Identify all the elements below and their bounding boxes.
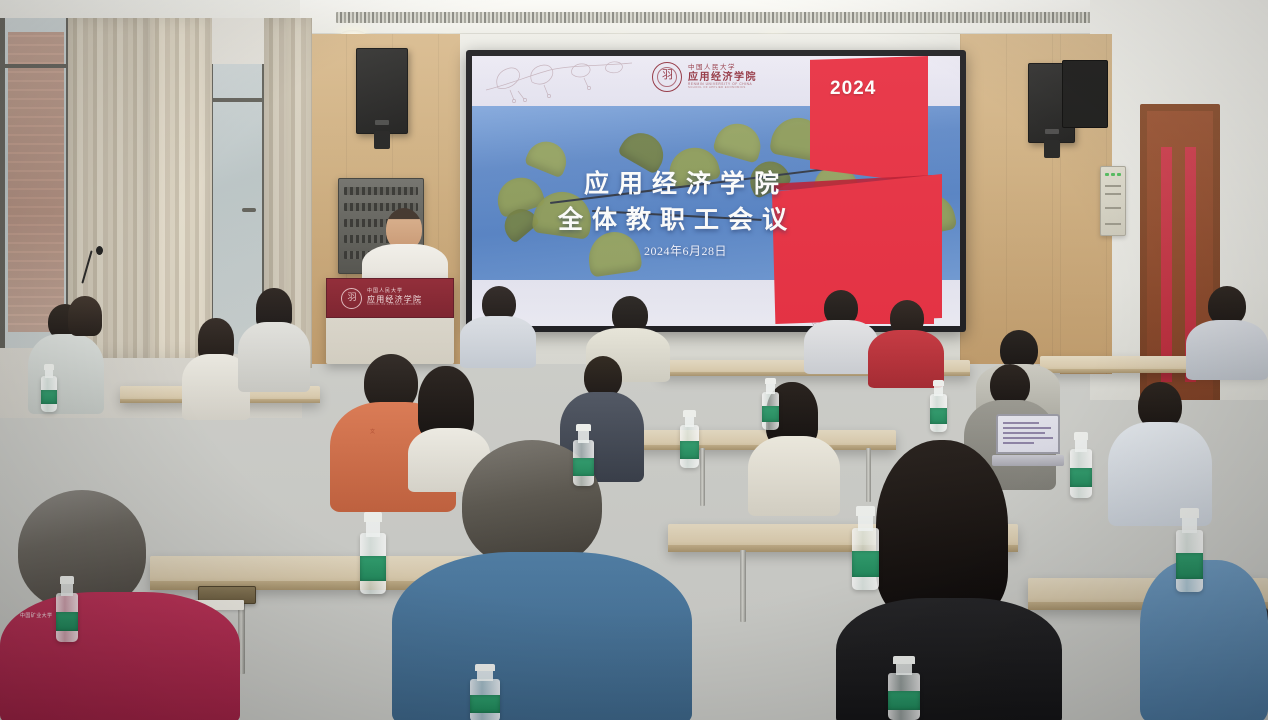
laptop-doc-line [1003,432,1045,434]
bottle-cap [576,424,590,431]
water-bottle[interactable] [573,424,594,486]
bottle-label [1070,468,1092,488]
attendee-foreground [392,440,692,720]
attendee-hair [68,296,102,336]
bottle-neck [685,416,695,428]
bottle-neck [578,430,589,442]
bottle-cap [683,410,696,417]
bottle-label [1176,553,1203,578]
window-mullion [0,64,73,68]
seal-glyph: ⽻ [342,293,361,302]
status-led [1111,173,1115,176]
panel-row [1105,185,1121,187]
loudspeaker-icon [356,48,408,134]
bottle-cap [475,664,495,671]
panel-row [1105,193,1121,195]
attendee-foreground [0,490,240,720]
attendee [804,290,878,372]
bottle-label [852,551,879,576]
lectern-school-en: SCHOOL OF APPLIED ECONOMICS [367,304,422,307]
bottle-neck [1182,516,1196,533]
water-bottle[interactable] [41,364,57,412]
water-bottle[interactable] [470,664,500,720]
ginkgo-leaf [712,118,766,163]
presenter [362,208,448,288]
wall-monitor [1062,60,1108,128]
bottle-label [573,458,594,477]
attendee-torso [804,320,878,374]
bottle-cap [44,364,55,370]
bottle-neck [45,369,53,379]
logo-text-group: 中国人民大学 应用经济学院 RENMIN UNIVERSITY OF CHINA… [688,64,757,89]
exterior-brick-building [8,32,64,332]
slide-title-line2: 全体教职工会议 [558,200,796,236]
bottle-label [360,556,386,581]
bottle-cap [893,656,915,664]
door-red-panel [1161,147,1172,382]
water-bottle[interactable] [56,576,78,642]
polo-logo: 中国矿业大学 [20,612,52,619]
polo-logo: 文 [370,428,375,435]
seal-glyph: ⽻ [653,70,681,81]
laptop-doc-line [1003,422,1039,424]
lectern: ⽻ 中国人民大学 应用经济学院 SCHOOL OF APPLIED ECONOM… [326,278,454,364]
slide-title-line1: 应用经济学院 [584,164,788,200]
rack-slot [344,187,418,195]
water-bottle[interactable] [852,506,879,590]
attendee-torso [1186,320,1268,380]
bottle-cap [364,512,382,522]
bottle-neck [766,383,775,393]
chair[interactable] [164,372,226,468]
attendee-torso [460,316,536,368]
bottle-cap [933,380,945,386]
attendee-hair [876,440,1008,618]
meeting-room-photo: ⽻ 中国人民大学 应用经济学院 RENMIN UNIVERSITY OF CHI… [0,0,1268,720]
presentation-screen[interactable]: ⽻ 中国人民大学 应用经济学院 RENMIN UNIVERSITY OF CHI… [466,50,966,332]
water-bottle[interactable] [888,656,920,720]
microphone-head-icon [96,246,103,255]
table-leg [740,550,746,622]
water-bottle[interactable] [1176,508,1203,592]
attendee [460,286,536,366]
slide-surface: ⽻ 中国人民大学 应用经济学院 RENMIN UNIVERSITY OF CHI… [472,56,960,326]
bottle-neck [858,514,872,531]
bottle-cap [765,378,777,384]
status-led [1105,173,1109,176]
chair[interactable] [226,398,292,500]
slide-date: 2024年6月28日 [644,242,727,259]
attendee-foreground [1140,560,1268,720]
lectern-sign: ⽻ 中国人民大学 应用经济学院 SCHOOL OF APPLIED ECONOM… [326,278,454,318]
bottle-cap [1180,508,1198,518]
bottle-label [930,408,947,424]
chair[interactable] [1030,490,1140,564]
bottle-label [680,441,699,458]
slide-red-shape [810,56,928,184]
logo-university-cn: 中国人民大学 [688,64,757,71]
bottle-label [762,406,779,422]
attendee-torso [238,322,310,392]
slide-logo: ⽻ 中国人民大学 应用经济学院 RENMIN UNIVERSITY OF CHI… [652,62,757,92]
laptop-doc-line [1003,437,1053,439]
attendee-torso [1140,560,1268,720]
university-seal-icon: ⽻ [341,288,362,309]
bottle-label [470,695,500,712]
curtain [150,18,212,358]
water-bottle[interactable] [930,380,947,432]
bottle-neck [366,520,380,536]
bottle-label [41,390,57,404]
speaker-badge [1045,129,1059,134]
bottle-neck [934,385,943,395]
lectern-text-group: 中国人民大学 应用经济学院 SCHOOL OF APPLIED ECONOMIC… [367,289,422,307]
chair[interactable] [228,664,418,720]
bottle-cap [1074,432,1089,440]
botanical-line-art [480,60,640,104]
logo-school-en: SCHOOL OF APPLIED ECONOMICS [688,86,757,89]
water-bottle[interactable] [680,410,699,468]
chair[interactable] [826,642,1016,720]
laptop-doc-line [1003,427,1051,429]
bottle-neck [1075,439,1086,452]
attendee-torso [392,552,692,720]
window-handle[interactable] [242,208,256,212]
bottle-label [888,691,920,710]
chair[interactable] [1196,398,1268,490]
attendee [238,288,310,388]
ginkgo-leaf [524,136,572,179]
water-bottle[interactable] [762,378,779,430]
speaker-badge [375,120,389,125]
bottle-label [56,612,78,632]
bottle-cap [60,576,75,584]
panel-row [1105,223,1121,225]
university-seal-icon: ⽻ [652,62,682,92]
status-led [1117,173,1121,176]
bottle-cap [856,506,874,516]
water-bottle[interactable] [360,512,386,594]
bottle-neck [61,583,72,596]
panel-row [1105,207,1121,209]
bottle-neck [477,670,493,682]
water-bottle[interactable] [1070,432,1092,498]
wall-control-panel-icon[interactable] [1100,166,1126,236]
attendee [1186,286,1268,376]
attendee [58,296,116,366]
bottle-neck [896,662,913,675]
slide-year: 2024 [830,78,876,100]
